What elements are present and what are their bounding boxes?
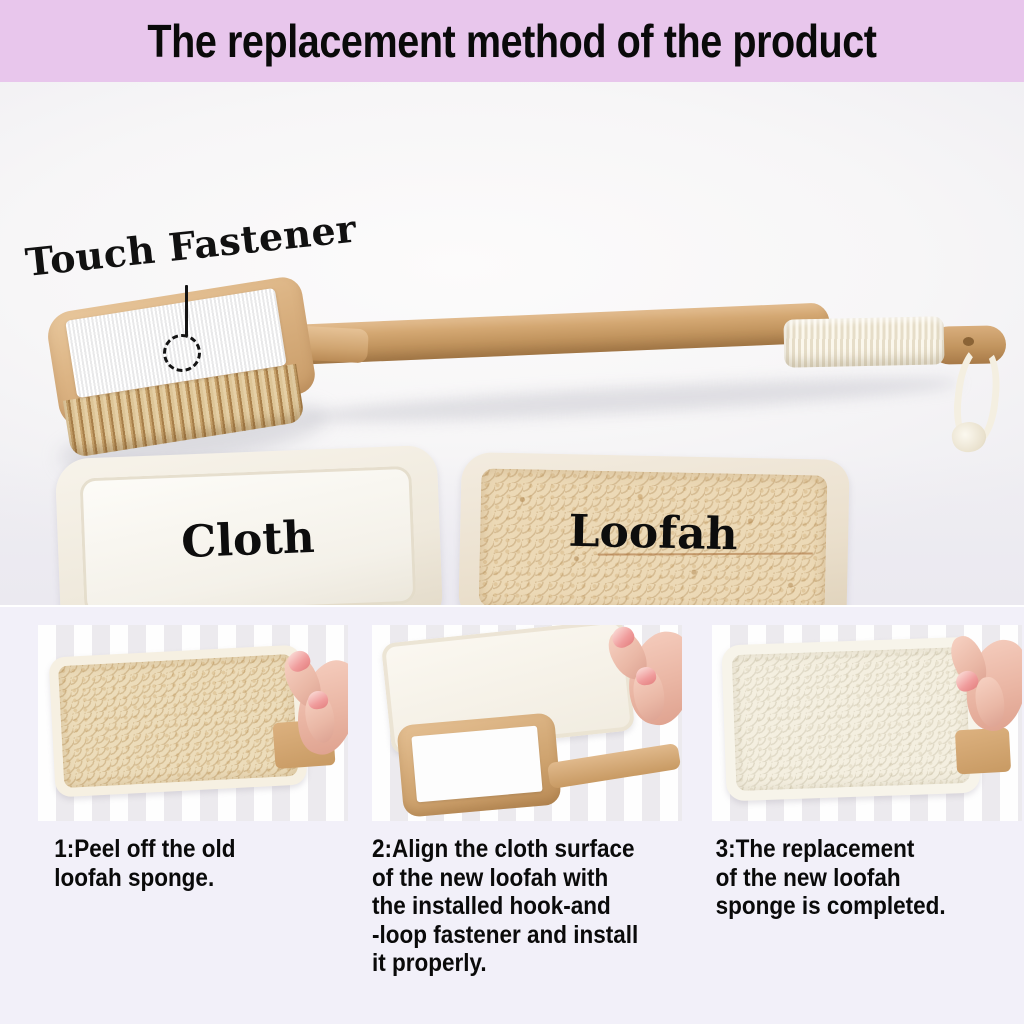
old-loofah-surface — [58, 654, 298, 788]
step-1-caption: 1:Peel off the old loofah sponge. — [38, 835, 317, 892]
loofah-pad-surface: Loofah — [479, 468, 828, 605]
step-3-photo — [712, 625, 1022, 821]
velcro-fastener-strip — [411, 726, 542, 803]
brush-handle — [289, 302, 830, 365]
step-panel-2: 2:Align the cloth surface of the new loo… — [372, 625, 682, 978]
cloth-pad: Cloth — [55, 445, 444, 605]
step-3-caption: 3:The replacement of the new loofah spon… — [712, 835, 991, 921]
cloth-pad-surface: Cloth — [79, 466, 416, 605]
loofah-pad: Loofah — [458, 452, 850, 605]
handle-hang-hole — [963, 337, 974, 346]
step-1-photo — [38, 625, 348, 821]
step-panel-1: 1:Peel off the old loofah sponge. — [38, 625, 348, 892]
old-loofah-pad — [49, 645, 308, 798]
hero-product-photo: Touch Fastener Cloth Loofah — [0, 82, 1024, 605]
cloth-label: Cloth — [81, 508, 415, 572]
rope-grip-wrap — [784, 316, 945, 367]
touch-fastener-label: Touch Fastener — [23, 206, 358, 285]
new-loofah-pad-installed — [721, 637, 980, 802]
new-loofah-surface — [732, 647, 971, 791]
touch-fastener-leader-line — [185, 285, 188, 337]
touch-fastener-callout-circle — [163, 334, 201, 372]
loofah-label: Loofah — [480, 504, 827, 562]
page-title: The replacement method of the product — [147, 18, 876, 64]
step-2-photo — [372, 625, 682, 821]
brush-head-partial — [955, 728, 1011, 775]
steps-section: 1:Peel off the old loofah sponge. 2:Alig… — [0, 607, 1024, 1024]
step-panel-3: 3:The replacement of the new loofah spon… — [712, 625, 1022, 921]
header-band: The replacement method of the product — [0, 0, 1024, 82]
step-2-caption: 2:Align the cloth surface of the new loo… — [372, 835, 651, 978]
handle-shadow — [300, 370, 960, 431]
